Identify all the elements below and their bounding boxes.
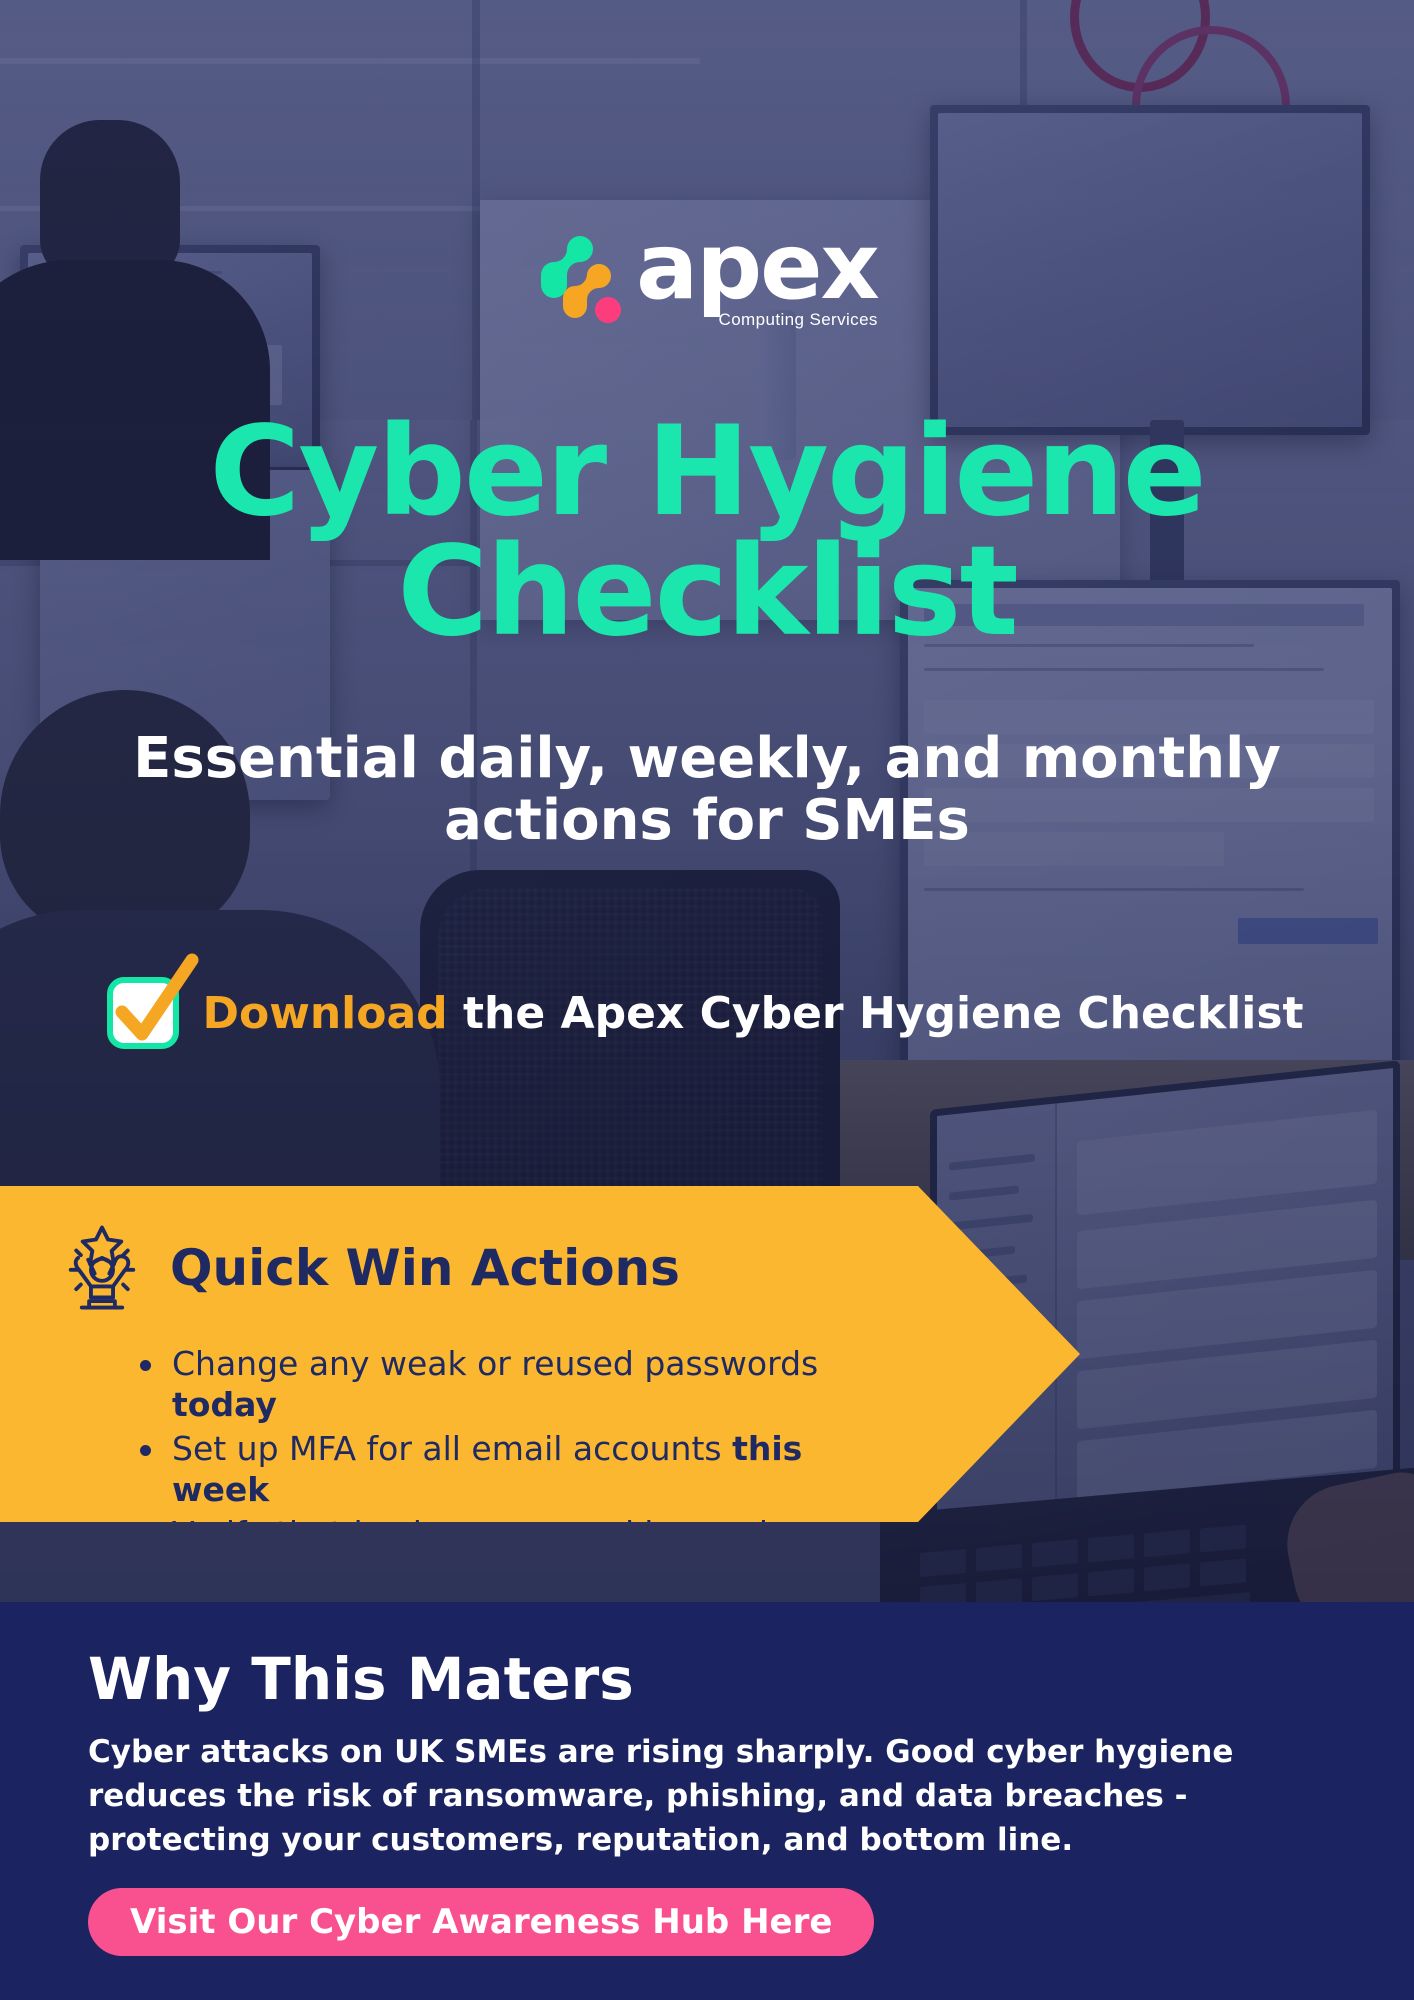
why-this-matters-section: Why This Maters Cyber attacks on UK SMEs… (0, 1602, 1414, 2000)
item-text: Change any weak or reused passwords (172, 1344, 818, 1383)
download-row[interactable]: Download the Apex Cyber Hygiene Checklis… (0, 980, 1414, 1046)
logo-wordmark: apex (636, 229, 878, 304)
download-rest: the Apex Cyber Hygiene Checklist (448, 988, 1304, 1039)
poster-root: apex Computing Services Cyber Hygiene Ch… (0, 0, 1414, 2000)
section-body: Cyber attacks on UK SMEs are rising shar… (88, 1730, 1338, 1862)
checkbox-checked-icon (110, 980, 176, 1046)
quick-win-title: Quick Win Actions (170, 1243, 680, 1293)
list-item: Set up MFA for all email accounts this w… (130, 1429, 890, 1510)
list-item: Change any weak or reused passwords toda… (130, 1344, 890, 1425)
quick-win-banner: Quick Win Actions Change any weak or reu… (0, 1186, 1080, 1522)
page-subtitle: Essential daily, weekly, and monthly act… (120, 728, 1294, 851)
cyber-awareness-hub-button[interactable]: Visit Our Cyber Awareness Hub Here (88, 1888, 874, 1956)
quick-win-header: Quick Win Actions (56, 1222, 680, 1314)
apex-logo-mark-icon (536, 226, 622, 330)
item-emphasis: today (172, 1385, 277, 1424)
download-highlight: Download (202, 988, 447, 1039)
item-text: Set up MFA for all email accounts (172, 1429, 732, 1468)
checkbox-checked-svg (102, 958, 198, 1054)
logo-tagline: Computing Services (719, 310, 878, 330)
title-line-2: Checklist (397, 520, 1016, 664)
brand-logo: apex Computing Services (0, 226, 1414, 330)
trophy-winner-star-icon (56, 1222, 148, 1314)
page-title: Cyber Hygiene Checklist (0, 412, 1414, 653)
section-heading: Why This Maters (88, 1650, 634, 1708)
download-label: Download the Apex Cyber Hygiene Checklis… (202, 988, 1303, 1039)
